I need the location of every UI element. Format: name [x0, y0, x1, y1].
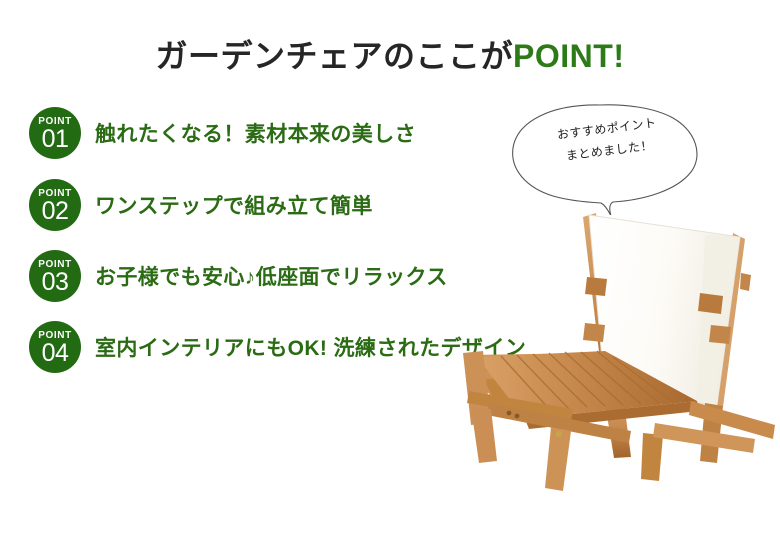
- point-row: POINT 04 室内インテリアにもOK! 洗練されたデザイン: [29, 321, 526, 373]
- garden-chair-illustration: [455, 195, 780, 495]
- badge-number: 04: [42, 341, 69, 366]
- point-row: POINT 02 ワンステップで組み立て簡単: [29, 179, 373, 231]
- point-list: POINT 01 触れたくなる！素材本来の美しさ POINT 02 ワンステップ…: [0, 0, 520, 538]
- point-label: お子様でも安心♪低座面でリラックス: [95, 261, 448, 291]
- point-badge-02: POINT 02: [29, 179, 81, 231]
- badge-number: 03: [42, 270, 69, 295]
- page-title-accent: POINT!: [513, 38, 624, 74]
- point-badge-03: POINT 03: [29, 250, 81, 302]
- garden-chair-image: [455, 195, 780, 495]
- point-label: ワンステップで組み立て簡単: [95, 190, 373, 220]
- point-badge-01: POINT 01: [29, 107, 81, 159]
- badge-number: 02: [42, 199, 69, 224]
- point-label: 触れたくなる！素材本来の美しさ: [95, 118, 416, 148]
- point-badge-04: POINT 04: [29, 321, 81, 373]
- badge-number: 01: [42, 127, 69, 152]
- point-row: POINT 03 お子様でも安心♪低座面でリラックス: [29, 250, 448, 302]
- point-row: POINT 01 触れたくなる！素材本来の美しさ: [29, 107, 416, 159]
